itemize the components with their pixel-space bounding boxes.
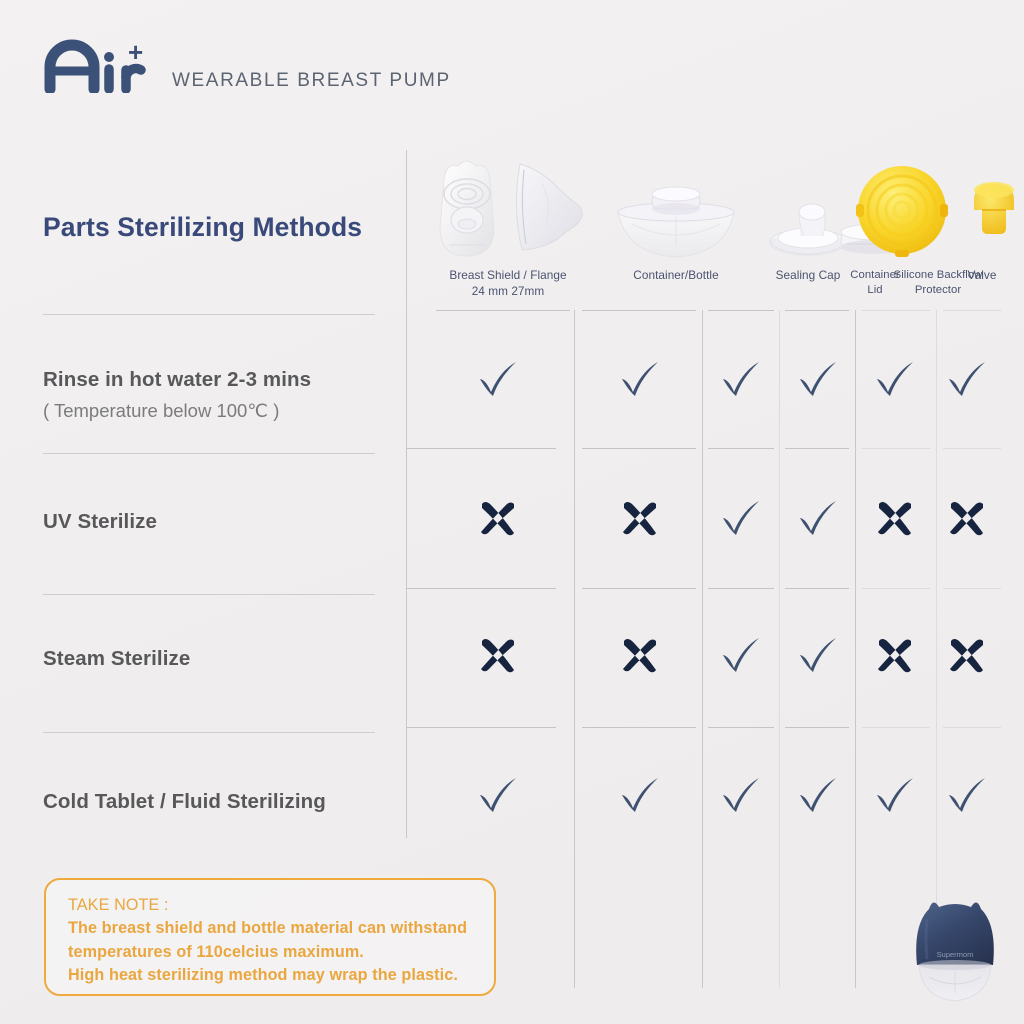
- row-rule-1-c5: [862, 448, 930, 449]
- row-rule-1-c2: [582, 448, 696, 449]
- column-divider-1: [574, 310, 575, 988]
- cell-uv-sterilize-valve: [938, 490, 994, 546]
- wearable-breast-pump-product-photo: Supermom: [903, 893, 1007, 1011]
- logo-plus-superscript: +: [128, 39, 143, 65]
- cell-uv-sterilize-container-bottle: [611, 490, 667, 546]
- header-rule-c1: [436, 310, 570, 311]
- row-rule-1-c1: [406, 448, 556, 449]
- column-label-line1: Container/Bottle: [592, 268, 760, 284]
- cell-steam-sterilize-sealing-cap: [712, 627, 768, 683]
- cell-cold-tablet-fluid-container-bottle: [611, 767, 667, 823]
- method-label-column: Rinse in hot water 2-3 mins ( Temperatur…: [43, 150, 383, 838]
- cell-uv-sterilize-sealing-cap: [712, 490, 768, 546]
- column-divider-2: [702, 310, 703, 988]
- container-bottle-image: [592, 150, 760, 268]
- cell-uv-sterilize-silicone-backflow-protector: [866, 490, 922, 546]
- cell-cold-tablet-fluid-sealing-cap: [712, 767, 768, 823]
- column-header-container-bottle: Container/Bottle: [592, 150, 760, 284]
- row-rule-3-c1: [406, 727, 556, 728]
- column-label-line2: 24 mm 27mm: [424, 284, 592, 300]
- take-note-box: TAKE NOTE : The breast shield and bottle…: [44, 878, 496, 996]
- cell-steam-sterilize-silicone-backflow-protector: [866, 627, 922, 683]
- row-rule-2-c2: [582, 588, 696, 589]
- column-header-breast-shield-flange: Breast Shield / Flange 24 mm 27mm: [424, 150, 592, 299]
- row-rule-3-c4: [785, 727, 849, 728]
- row-rule-3-c5: [862, 727, 930, 728]
- cell-cold-tablet-fluid-container-lid: [789, 767, 845, 823]
- note-heading: TAKE NOTE :: [68, 894, 474, 917]
- cell-cold-tablet-fluid-valve: [938, 767, 994, 823]
- label-rule-2: [43, 453, 375, 454]
- cell-rinse-hot-water-sealing-cap: [712, 351, 768, 407]
- row-rule-2-c3: [708, 588, 774, 589]
- header-rule-c2: [582, 310, 696, 311]
- row-rule-1-c4: [785, 448, 849, 449]
- cell-rinse-hot-water-container-bottle: [611, 351, 667, 407]
- row-label-steam-sterilize: Steam Sterilize: [43, 645, 375, 673]
- row-rule-2-c5: [862, 588, 930, 589]
- column-header-valve: Valve: [940, 150, 1024, 284]
- header-rule-c3: [708, 310, 774, 311]
- header-rule-c6: [943, 310, 1001, 311]
- column-label-line2: Protector: [854, 283, 1022, 298]
- note-line-3: High heat sterilizing method may wrap th…: [68, 964, 474, 987]
- note-line-1: The breast shield and bottle material ca…: [68, 917, 474, 940]
- header-rule-c5: [862, 310, 930, 311]
- column-label-line1: Valve: [940, 268, 1024, 284]
- row-rule-2-c1: [406, 588, 556, 589]
- label-rule-4: [43, 732, 375, 733]
- cell-rinse-hot-water-breast-shield-flange: [469, 351, 525, 407]
- row-rule-3-c6: [943, 727, 1001, 728]
- row-rule-1-c6: [943, 448, 1001, 449]
- header-rule-c4: [785, 310, 849, 311]
- row-label-rinse-hot-water: Rinse in hot water 2-3 mins ( Temperatur…: [43, 366, 375, 422]
- column-divider-4: [855, 310, 856, 988]
- brand-tagline: WEARABLE BREAST PUMP: [172, 70, 451, 92]
- column-label-line1: Breast Shield / Flange: [424, 268, 592, 284]
- sterilizing-matrix: Breast Shield / Flange 24 mm 27mm: [406, 150, 1024, 838]
- cell-cold-tablet-fluid-breast-shield-flange: [469, 767, 525, 823]
- note-line-2: temperatures of 110celcius maximum.: [68, 941, 474, 964]
- cell-uv-sterilize-container-lid: [789, 490, 845, 546]
- label-rule-3: [43, 594, 375, 595]
- cell-cold-tablet-fluid-silicone-backflow-protector: [866, 767, 922, 823]
- sterilizing-methods-infographic: + WEARABLE BREAST PUMP Parts Sterilizing…: [0, 0, 1024, 1024]
- row-label-cold-tablet-fluid: Cold Tablet / Fluid Sterilizing: [43, 788, 375, 816]
- column-divider-5: [936, 310, 937, 988]
- column-divider-3: [779, 310, 780, 988]
- valve-image: [940, 150, 1024, 268]
- air-plus-logo: +: [42, 37, 152, 98]
- cell-steam-sterilize-container-lid: [789, 627, 845, 683]
- row-rule-3-c3: [708, 727, 774, 728]
- svg-text:Supermom: Supermom: [937, 950, 974, 959]
- label-rule-1: [43, 314, 375, 315]
- row-label-uv-sterilize: UV Sterilize: [43, 508, 375, 536]
- row-rule-1-c3: [708, 448, 774, 449]
- breast-shield-and-flange-image: [424, 150, 592, 268]
- cell-uv-sterilize-breast-shield-flange: [469, 490, 525, 546]
- cell-steam-sterilize-container-bottle: [611, 627, 667, 683]
- cell-steam-sterilize-breast-shield-flange: [469, 627, 525, 683]
- brand-header: + WEARABLE BREAST PUMP: [42, 38, 451, 98]
- row-rule-2-c6: [943, 588, 1001, 589]
- cell-rinse-hot-water-container-lid: [789, 351, 845, 407]
- row-rule-3-c2: [582, 727, 696, 728]
- cell-rinse-hot-water-valve: [938, 351, 994, 407]
- cell-steam-sterilize-valve: [938, 627, 994, 683]
- cell-rinse-hot-water-silicone-backflow-protector: [866, 351, 922, 407]
- row-rule-2-c4: [785, 588, 849, 589]
